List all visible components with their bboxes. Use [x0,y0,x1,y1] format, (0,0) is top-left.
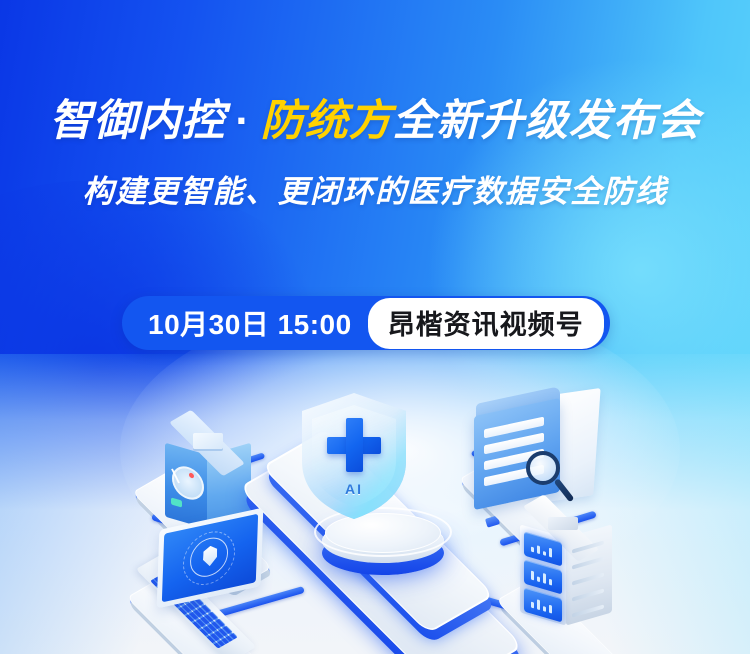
cube-top-chip [193,433,223,449]
laptop-station [112,537,312,654]
page-subtitle: 构建更智能、更闭环的医疗数据安全防线 [0,166,750,211]
isometric-illustration: AI [0,355,750,654]
title-segment-2: 全新升级发布会 [393,97,701,145]
event-info-pill: 10月30日 15:00 昂楷资讯视频号 [122,296,610,350]
event-channel-badge: 昂楷资讯视频号 [368,298,604,349]
rack-bar-group [531,541,552,558]
server-rack-station [470,523,670,654]
event-datetime: 10月30日 15:00 [122,303,368,343]
medical-cross-icon [327,418,381,472]
promotional-banner: 智御内控·防统方全新升级发布会 构建更智能、更闭环的医疗数据安全防线 10月30… [0,0,750,654]
magnifier-handle [554,478,575,502]
headline-block: 智御内控·防统方全新升级发布会 构建更智能、更闭环的医疗数据安全防线 [0,96,750,211]
cross-bar-vertical [346,418,363,472]
security-shield: AI [298,391,410,521]
server-rack [514,519,620,631]
title-highlight: 防统方 [261,97,393,145]
title-segment-1: 智御内控 [49,97,225,145]
rack-bar-group [531,597,552,614]
rack-top-slot [548,517,578,530]
title-separator: · [225,97,260,145]
page-title: 智御内控·防统方全新升级发布会 [0,96,750,147]
laptop-display [162,514,258,603]
rack-bar-group [531,569,552,586]
shield-ai-label: AI [298,481,410,497]
